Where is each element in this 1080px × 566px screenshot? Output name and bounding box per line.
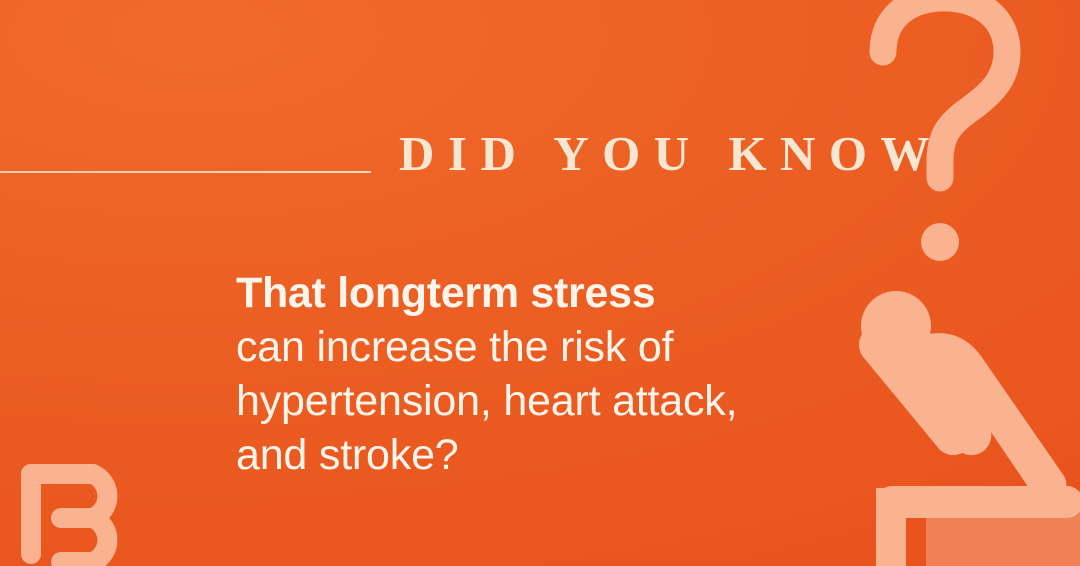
heading-rule — [0, 171, 371, 173]
stressed-seated-person-icon — [840, 276, 1080, 566]
body-copy: That longterm stress can increase the ri… — [236, 266, 876, 482]
brand-b-monogram-logo — [17, 450, 137, 566]
page-title: DID YOU KNOW — [399, 129, 943, 178]
body-line-4: and stroke? — [236, 428, 876, 482]
body-line-1: That longterm stress — [236, 266, 876, 320]
body-line-2: can increase the risk of — [236, 320, 876, 374]
did-you-know-poster: DID YOU KNOW That longterm stress can in… — [0, 0, 1080, 566]
body-line-3: hypertension, heart attack, — [236, 374, 876, 428]
